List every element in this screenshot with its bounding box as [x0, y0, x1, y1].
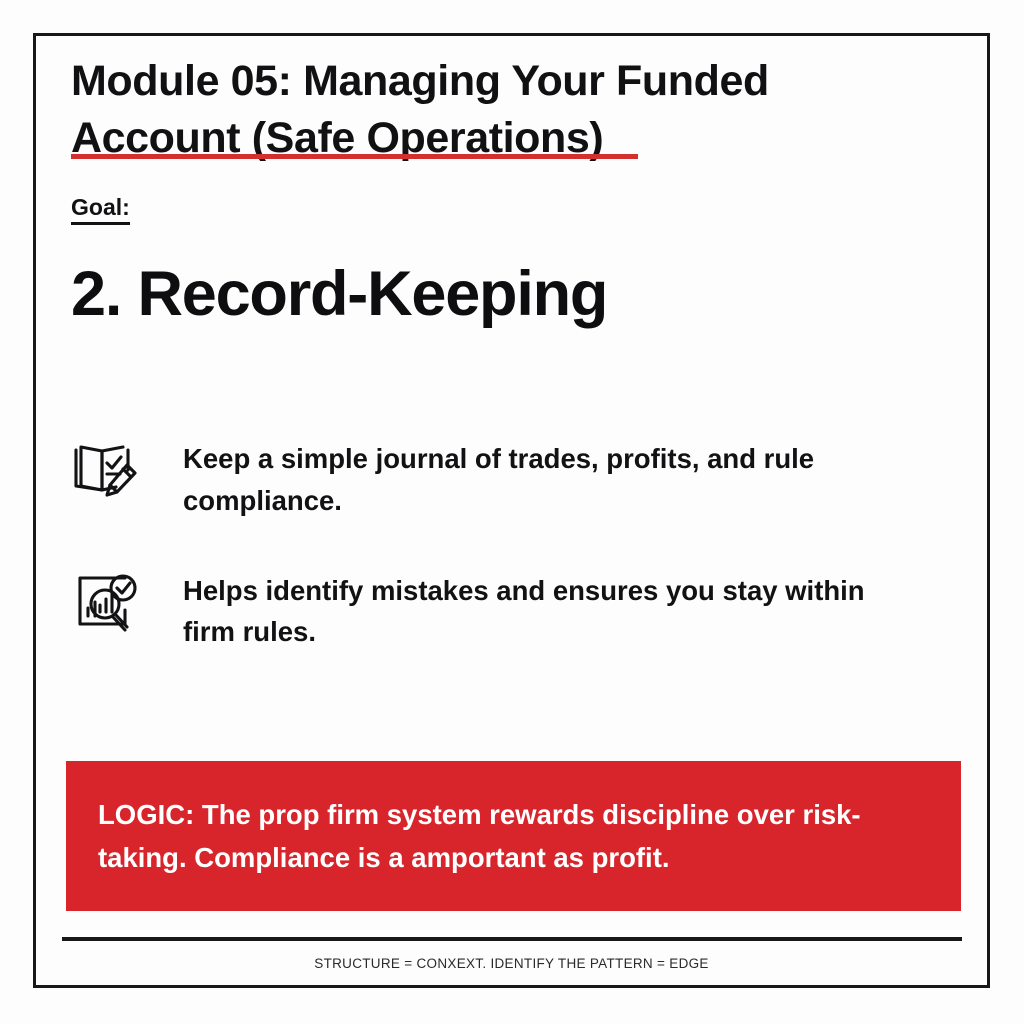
- list-item: Helps identify mistakes and ensures you …: [69, 564, 949, 654]
- list-item: Keep a simple journal of trades, profits…: [69, 432, 949, 522]
- slide-content: Module 05: Managing Your Funded Account …: [36, 36, 987, 985]
- slide-frame: Module 05: Managing Your Funded Account …: [33, 33, 990, 988]
- section-heading: 2. Record-Keeping: [71, 259, 607, 330]
- title-red-underline: [71, 154, 638, 159]
- list-item-label: Keep a simple journal of trades, profits…: [183, 432, 873, 522]
- logic-banner-text: LOGIC: The prop firm system rewards disc…: [98, 793, 929, 880]
- list-item-label: Helps identify mistakes and ensures you …: [183, 564, 873, 654]
- goal-label: Goal:: [71, 195, 130, 225]
- logic-banner: LOGIC: The prop firm system rewards disc…: [66, 761, 961, 911]
- footer-tagline: STRUCTURE = CONXEXT. IDENTIFY THE PATTER…: [36, 956, 987, 971]
- page-title: Module 05: Managing Your Funded Account …: [71, 57, 769, 162]
- logic-label: LOGIC:: [98, 799, 194, 830]
- title-block: Module 05: Managing Your Funded Account …: [71, 53, 931, 167]
- footer-divider: [62, 937, 962, 941]
- bullet-list: Keep a simple journal of trades, profits…: [69, 432, 949, 695]
- chart-magnifier-check-icon: [69, 566, 141, 638]
- journal-checkmark-pencil-icon: [69, 434, 141, 506]
- slide-root: Module 05: Managing Your Funded Account …: [0, 0, 1024, 1024]
- logic-body: The prop firm system rewards discipline …: [98, 799, 861, 873]
